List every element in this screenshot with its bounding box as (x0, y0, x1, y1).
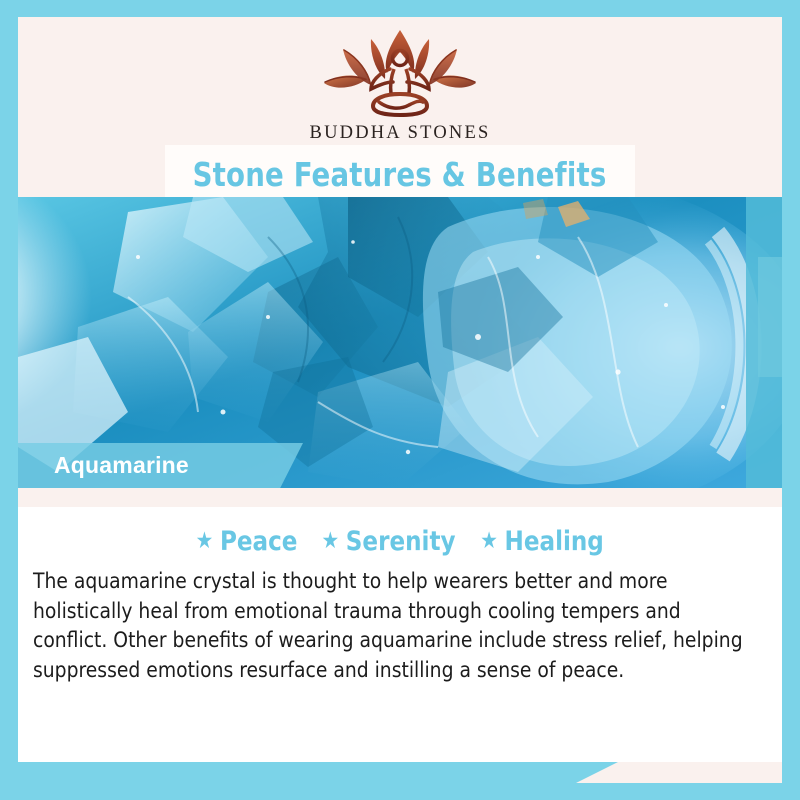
star-icon: ★ (196, 530, 214, 553)
keyword-serenity: ★ Serenity (321, 526, 455, 557)
stone-name-tag: Aquamarine (18, 443, 303, 488)
page-title: Stone Features & Benefits (193, 155, 607, 194)
stone-name-label: Aquamarine (54, 452, 189, 479)
stone-description: The aquamarine crystal is thought to hel… (33, 567, 745, 685)
keyword-label: Healing (505, 526, 604, 557)
aquamarine-crystal-photo: Aquamarine (18, 197, 782, 488)
lotus-meditation-icon (315, 27, 485, 119)
ribbon-accent (18, 762, 618, 783)
star-icon: ★ (480, 530, 498, 553)
brand-logo: BUDDHA STONES (18, 27, 782, 144)
keywords-row: ★ Peace ★ Serenity ★ Healing (18, 526, 782, 557)
bottom-ribbon (18, 762, 782, 783)
infographic-page: BUDDHA STONES Stone Features & Benefits (0, 0, 800, 800)
keyword-healing: ★ Healing (480, 526, 604, 557)
keyword-peace: ★ Peace (196, 526, 298, 557)
title-banner: Stone Features & Benefits (165, 145, 635, 204)
content-panel: ★ Peace ★ Serenity ★ Healing The aquamar… (18, 507, 782, 762)
inner-card: BUDDHA STONES Stone Features & Benefits (18, 17, 782, 783)
keyword-label: Serenity (346, 526, 456, 557)
keyword-label: Peace (220, 526, 297, 557)
brand-name: BUDDHA STONES (18, 123, 782, 144)
star-icon: ★ (321, 530, 339, 553)
